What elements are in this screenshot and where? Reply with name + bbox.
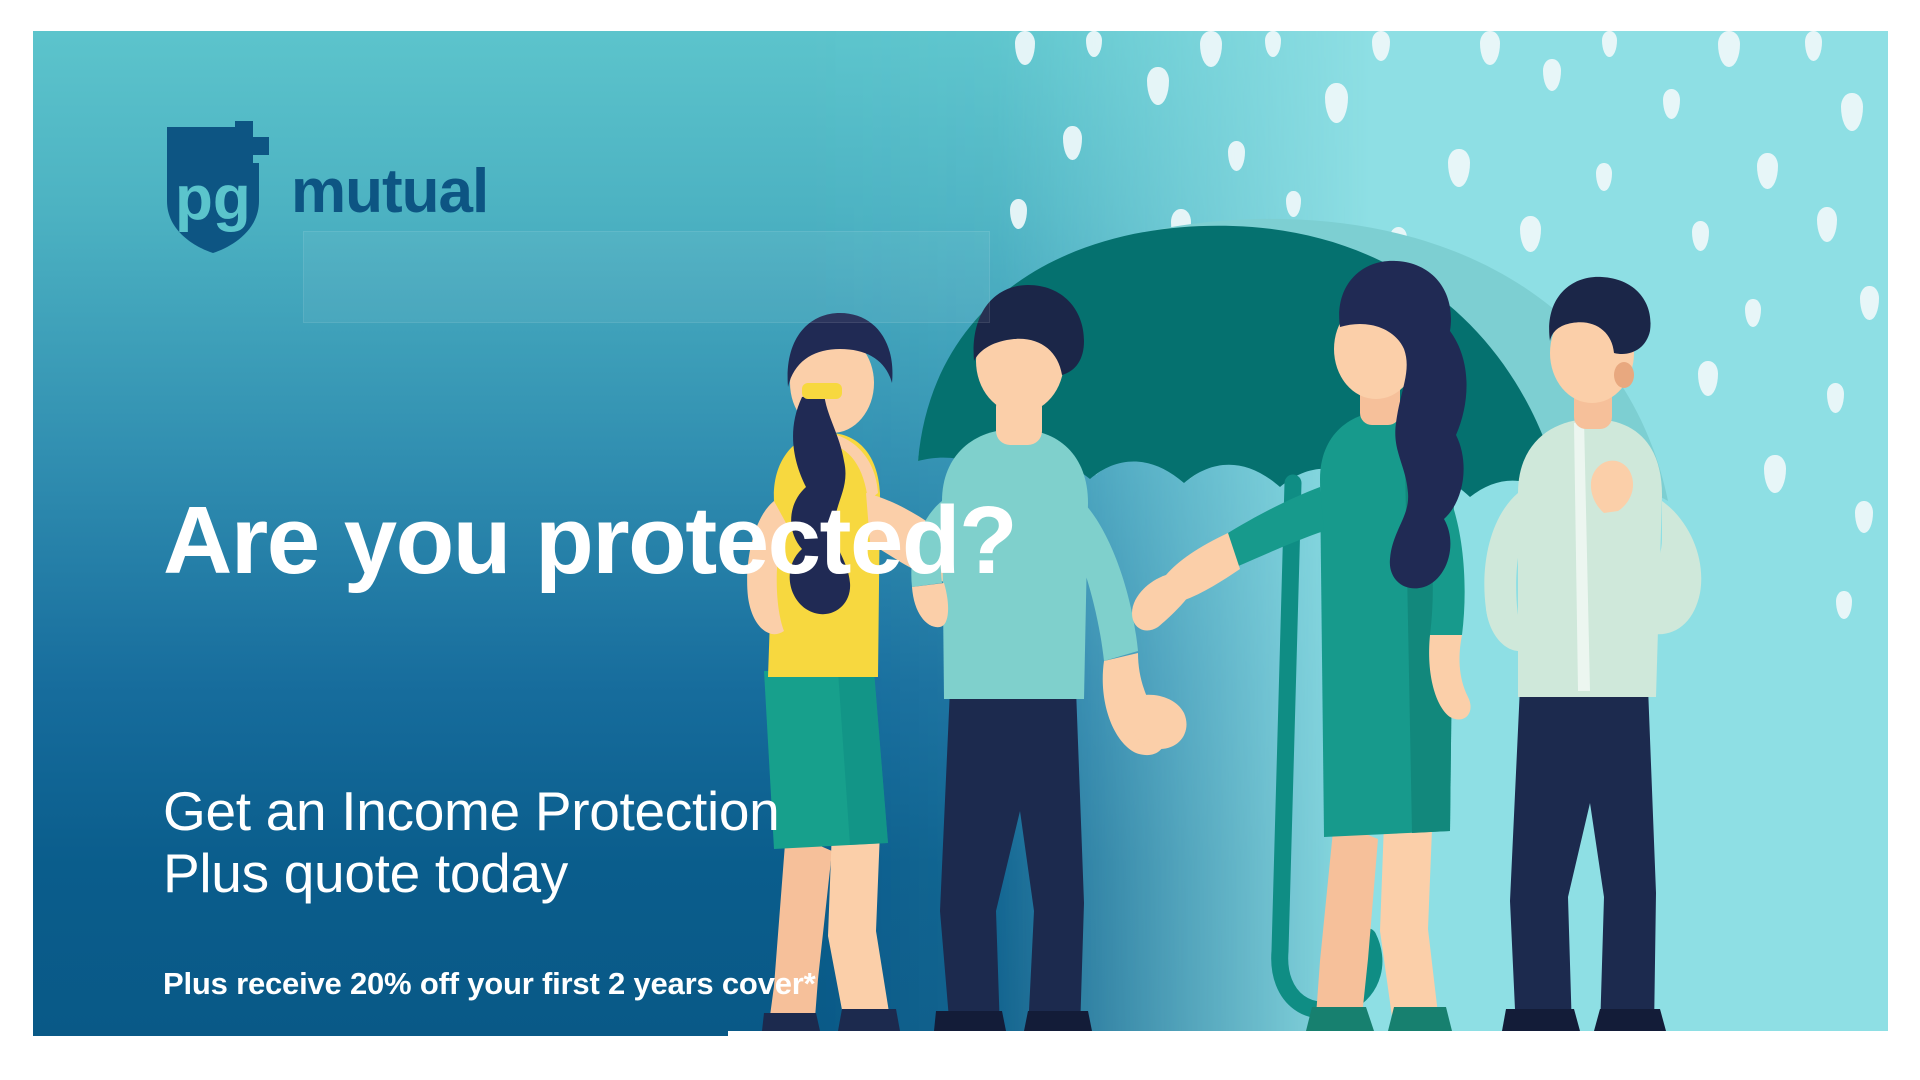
subheading-line-2: Plus quote today [163, 843, 779, 905]
empty-content-placeholder [303, 231, 990, 323]
promo-banner[interactable]: pg mutual Are you protected? Get an Inco… [33, 31, 1888, 1036]
brand-wordmark: mutual [291, 161, 488, 223]
offer-fineprint: Plus receive 20% off your first 2 years … [163, 966, 815, 1002]
logo-mark-text: pg [175, 164, 251, 233]
subheading-line-1: Get an Income Protection [163, 781, 779, 843]
subheading: Get an Income Protection Plus quote toda… [163, 781, 779, 904]
screenshot-root: pg mutual Are you protected? Get an Inco… [0, 0, 1920, 1080]
page-title: Are you protected? [163, 491, 1016, 591]
pg-shield-plus-logo: pg [161, 119, 289, 255]
